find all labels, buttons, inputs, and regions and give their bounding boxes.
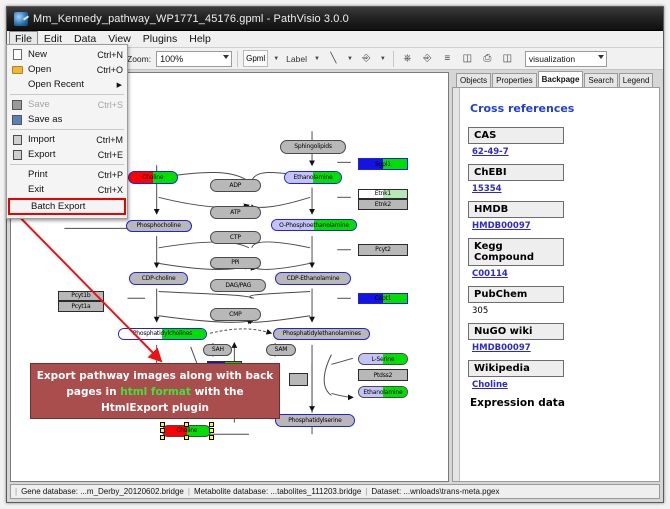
metabolite-node-l-serine[interactable]: L-Serine [358, 353, 408, 366]
metabolite-node-ctp[interactable]: CTP [210, 231, 260, 244]
menu-item-no-icon [12, 200, 28, 213]
file-menu-item-accelerator: Ctrl+S [98, 100, 127, 110]
node-label: Etnk1 [375, 190, 391, 197]
file-menu-item-accelerator: Ctrl+O [97, 65, 127, 75]
node-label: L-Serine [371, 356, 394, 363]
status-bar: | Gene database: ...m_Derby_20120602.bri… [10, 484, 660, 499]
resize-handle[interactable] [160, 422, 165, 427]
cross-reference-database-name: NuGO wiki [468, 323, 564, 340]
resize-handle[interactable] [209, 428, 214, 433]
node-label: Pcyt2 [375, 246, 391, 253]
file-menu-separator [10, 164, 124, 165]
metabolite-node-ethanolamine-top[interactable]: Ethanolamine [284, 171, 342, 184]
file-menu-item-open[interactable]: OpenCtrl+O [7, 62, 127, 77]
shape-tool-button[interactable]: Gpml [243, 50, 268, 67]
align-middle-icon[interactable]: ⎆ [419, 50, 436, 67]
cross-reference-entry: Kegg CompoundC00114 [468, 238, 651, 279]
node-label: Etnk2 [375, 201, 391, 208]
metabolite-node-ppi[interactable]: PPi [210, 257, 260, 270]
resize-handle[interactable] [209, 435, 214, 440]
cross-reference-entry: WikipediaCholine [468, 360, 651, 390]
screenshot-root: Mm_Kennedy_pathway_WP1771_45176.gpml - P… [0, 0, 670, 509]
visualization-combobox[interactable]: visualization [525, 51, 607, 67]
gene-node-pisd[interactable] [289, 373, 308, 386]
line-tool-icon[interactable]: ╲ [325, 50, 342, 67]
expression-data-title: Expression data [470, 397, 651, 409]
resize-handle[interactable] [160, 428, 165, 433]
annotation-line-2-pre: pages in [66, 386, 120, 398]
cross-reference-database-name: CAS [468, 127, 564, 144]
file-menu-item-label: Save [25, 99, 98, 110]
cross-reference-link[interactable]: HMDB00097 [468, 218, 651, 231]
resize-handle[interactable] [184, 435, 189, 440]
metabolite-node-cdp-ethanolamine[interactable]: CDP-Ethanolamine [275, 272, 351, 285]
metabolite-node-sphingolipids[interactable]: Sphingolipids [280, 140, 346, 154]
file-menu-item-print[interactable]: PrintCtrl+P [7, 167, 127, 182]
file-menu-item-label: Open Recent [25, 79, 117, 90]
node-label: Ptdss2 [374, 372, 393, 379]
export-icon [9, 148, 25, 161]
cross-references-title: Cross references [470, 102, 651, 115]
cross-reference-database-name: Wikipedia [468, 360, 564, 377]
node-label: Ethanolamine [293, 174, 332, 181]
print-icon[interactable]: ⎙ [479, 50, 496, 67]
cross-reference-database-name: ChEBI [468, 164, 564, 181]
metabolite-node-choline[interactable]: Choline [128, 171, 178, 184]
align-columns-icon[interactable]: ◫ [459, 50, 476, 67]
file-menu-item-export[interactable]: ExportCtrl+E [7, 147, 127, 162]
node-label: ADP [229, 182, 241, 189]
file-menu-item-label: Open [25, 64, 97, 75]
resize-handle[interactable] [160, 435, 165, 440]
toolbar-separator-3 [237, 51, 238, 67]
metabolite-node-dag-pag[interactable]: DAG/PAG [210, 279, 266, 292]
tab-backpage[interactable]: Backpage [538, 71, 584, 87]
menu-item-no-icon [9, 168, 25, 181]
node-label: SAM [275, 346, 288, 353]
node-label: Phosphatidylethanolamines [283, 330, 361, 337]
status-metabolite-database: Metabolite database: ...tabolites_111203… [190, 487, 365, 496]
file-menu-item-label: Batch Export [28, 201, 120, 212]
file-menu-item-exit[interactable]: ExitCtrl+X [7, 182, 127, 197]
cross-reference-value: 305 [468, 303, 651, 316]
cross-reference-link[interactable]: 15354 [468, 181, 651, 194]
status-dataset: Dataset: ...wnloads\trans-meta.pgex [367, 487, 503, 496]
align-left-icon[interactable]: ≡ [439, 50, 456, 67]
node-label: Phosphatidylcholines [133, 330, 192, 337]
file-menu-item-save-as[interactable]: Save as [7, 112, 127, 127]
cross-reference-entry: ChEBI15354 [468, 164, 651, 194]
backpage-panel: Cross references CAS62-49-7ChEBI15354HMD… [452, 87, 660, 482]
metabolite-node-phosphatidylserine[interactable]: Phosphatidylserine [275, 414, 355, 427]
metabolite-node-sam[interactable]: SAM [266, 344, 295, 356]
metabolite-node-cdp-choline[interactable]: CDP-choline [129, 272, 187, 285]
node-label: Pcyt1b [71, 292, 90, 299]
cross-reference-entry: CAS62-49-7 [468, 127, 651, 157]
shape-tool-chevron-down-icon[interactable]: ▼ [271, 56, 281, 62]
cross-reference-link[interactable]: Choline [468, 377, 651, 390]
label-tool-chevron-down-icon[interactable]: ▼ [312, 56, 322, 62]
file-menu-separator [10, 94, 124, 95]
node-label: CMP [229, 311, 241, 318]
file-menu-dropdown[interactable]: NewCtrl+NOpenCtrl+OOpen Recent▶SaveCtrl+… [6, 44, 128, 219]
node-label: O-Phosphoethanolamine [279, 222, 349, 229]
metabolite-node-ethanolamine-right[interactable]: Ethanolamine [358, 386, 408, 399]
visualization-value: visualization [529, 54, 575, 64]
tab-objects[interactable]: Objects [456, 73, 491, 87]
node-label: Phosphatidylserine [288, 417, 341, 424]
zoom-label: Zoom: [127, 54, 151, 64]
file-menu-item-accelerator: Ctrl+N [97, 50, 127, 60]
file-menu-item-import[interactable]: ImportCtrl+M [7, 132, 127, 147]
annotation-callout: Export pathway images along with back pa… [30, 363, 280, 419]
tab-properties[interactable]: Properties [492, 73, 536, 87]
annotation-line-2-post: with the [191, 386, 244, 398]
annotation-line-1: Export pathway images along with back [31, 368, 279, 384]
node-label: Ethanolamine [363, 389, 402, 396]
file-menu-item-batch-export[interactable]: Batch Export [8, 198, 126, 215]
label-tool-label[interactable]: Label [284, 54, 309, 64]
file-menu-item-accelerator: Ctrl+M [96, 135, 127, 145]
zoom-combobox[interactable]: 100% [156, 51, 232, 67]
node-label: SAH [212, 346, 224, 353]
title-bar: Mm_Kennedy_pathway_WP1771_45176.gpml - P… [7, 7, 663, 31]
new-document-icon [9, 48, 25, 61]
save-as-icon [9, 113, 25, 126]
node-label: DAG/PAG [225, 282, 251, 289]
gene-node-pcyt2[interactable]: Pcyt2 [358, 244, 408, 256]
cross-references-list: CAS62-49-7ChEBI15354HMDBHMDB00097Kegg Co… [468, 127, 651, 390]
gene-node-ptdss2[interactable]: Ptdss2 [358, 369, 408, 381]
node-label: Choline [176, 427, 197, 434]
file-menu-item-open-recent[interactable]: Open Recent▶ [7, 77, 127, 92]
file-menu-item-new[interactable]: NewCtrl+N [7, 47, 127, 62]
node-label: Sgpl1 [375, 161, 391, 168]
file-menu-separator [10, 129, 124, 130]
node-label: CTP [230, 234, 241, 241]
chevron-down-icon [223, 55, 229, 59]
file-menu-item-label: Import [25, 134, 96, 145]
metabolite-node-o-phosphoethanolamine[interactable]: O-Phosphoethanolamine [271, 219, 356, 232]
annotation-html-format-highlight: html format [120, 386, 191, 398]
interaction-tool-chevron-down-icon[interactable]: ▼ [378, 56, 388, 62]
side-panel-tabs: Objects Properties Backpage Search Legen… [452, 72, 660, 87]
open-folder-icon [9, 63, 25, 76]
gene-node-etnk1[interactable]: Etnk1 [358, 189, 408, 200]
side-panel: Objects Properties Backpage Search Legen… [452, 72, 660, 482]
file-menu-item-label: Exit [25, 184, 98, 195]
cross-reference-database-name: PubChem [468, 286, 564, 303]
file-menu-item-accelerator: Ctrl+P [98, 170, 127, 180]
node-label: Choline [142, 174, 163, 181]
file-menu-item-label: Print [25, 169, 98, 180]
gene-node-cept1[interactable]: Cept1 [358, 293, 408, 305]
metabolite-node-phosphatidylcholines[interactable]: Phosphatidylcholines [118, 328, 207, 341]
tab-legend[interactable]: Legend [619, 73, 654, 87]
cross-reference-link[interactable]: 62-49-7 [468, 144, 651, 157]
node-label: CDP-Ethanolamine [287, 275, 340, 282]
node-label: Sphingolipids [294, 143, 332, 150]
cross-reference-link[interactable]: HMDB00097 [468, 340, 651, 353]
align-top-icon[interactable]: ⎈ [399, 50, 416, 67]
resize-handle[interactable] [209, 422, 214, 427]
pathvisio-icon [14, 12, 28, 26]
zoom-value: 100% [160, 54, 183, 64]
node-label: Cept1 [374, 295, 391, 302]
file-menu-item-label: New [25, 49, 97, 60]
status-gene-database: Gene database: ...m_Derby_20120602.bridg… [17, 487, 188, 496]
resize-handle[interactable] [184, 422, 189, 427]
node-label: Pcyt1a [71, 303, 90, 310]
cross-reference-entry: PubChem305 [468, 286, 651, 316]
node-label: ATP [230, 209, 240, 216]
node-label: Phosphocholine [136, 222, 180, 229]
metabolite-node-phosphatidylethanolamines[interactable]: Phosphatidylethanolamines [273, 328, 370, 341]
interaction-tool-icon[interactable]: ⎆ [358, 50, 375, 67]
metabolite-node-adp[interactable]: ADP [210, 179, 260, 192]
align-stack-icon[interactable]: ◫ [499, 50, 516, 67]
file-menu-item-save: SaveCtrl+S [7, 97, 127, 112]
toolbar-separator-4 [393, 51, 394, 67]
tab-search[interactable]: Search [584, 73, 617, 87]
file-menu-item-accelerator: Ctrl+X [98, 185, 127, 195]
metabolite-node-phosphocholine[interactable]: Phosphocholine [126, 220, 192, 233]
cross-reference-database-name: Kegg Compound [468, 238, 564, 266]
file-menu-item-label: Save as [25, 114, 123, 125]
node-label: CDP-choline [142, 275, 176, 282]
menu-item-no-icon [9, 183, 25, 196]
backpage-content: Cross references CAS62-49-7ChEBI15354HMD… [460, 88, 659, 481]
file-menu-item-label: Export [25, 149, 98, 160]
line-tool-chevron-down-icon[interactable]: ▼ [345, 56, 355, 62]
annotation-line-2: pages in html format with the [31, 384, 279, 400]
menu-help[interactable]: Help [183, 31, 217, 47]
gene-node-sgpl1[interactable]: Sgpl1 [358, 158, 408, 170]
gene-node-pcyt1b[interactable]: Pcyt1b [58, 291, 105, 302]
window-title: Mm_Kennedy_pathway_WP1771_45176.gpml - P… [33, 13, 349, 25]
gene-node-etnk2[interactable]: Etnk2 [358, 199, 408, 210]
metabolite-node-atp[interactable]: ATP [210, 206, 260, 219]
cross-reference-database-name: HMDB [468, 201, 564, 218]
shape-tool-label: Gpml [246, 54, 265, 63]
backpage-scrollbar[interactable] [453, 88, 460, 481]
cross-reference-entry: HMDBHMDB00097 [468, 201, 651, 231]
metabolite-node-sah[interactable]: SAH [203, 344, 232, 356]
cross-reference-entry: NuGO wikiHMDB00097 [468, 323, 651, 353]
gene-node-pcyt1a[interactable]: Pcyt1a [58, 301, 105, 312]
chevron-right-icon: ▶ [117, 81, 127, 89]
file-menu-item-accelerator: Ctrl+E [98, 150, 127, 160]
node-label: PPi [231, 259, 239, 266]
menu-plugins[interactable]: Plugins [137, 31, 183, 47]
metabolite-node-cmp[interactable]: CMP [210, 308, 260, 321]
menu-item-no-icon [9, 78, 25, 91]
import-icon [9, 133, 25, 146]
chevron-down-icon [598, 55, 604, 59]
save-icon [9, 98, 25, 111]
cross-reference-link[interactable]: C00114 [468, 266, 651, 279]
annotation-line-3: HtmlExport plugin [31, 400, 279, 416]
